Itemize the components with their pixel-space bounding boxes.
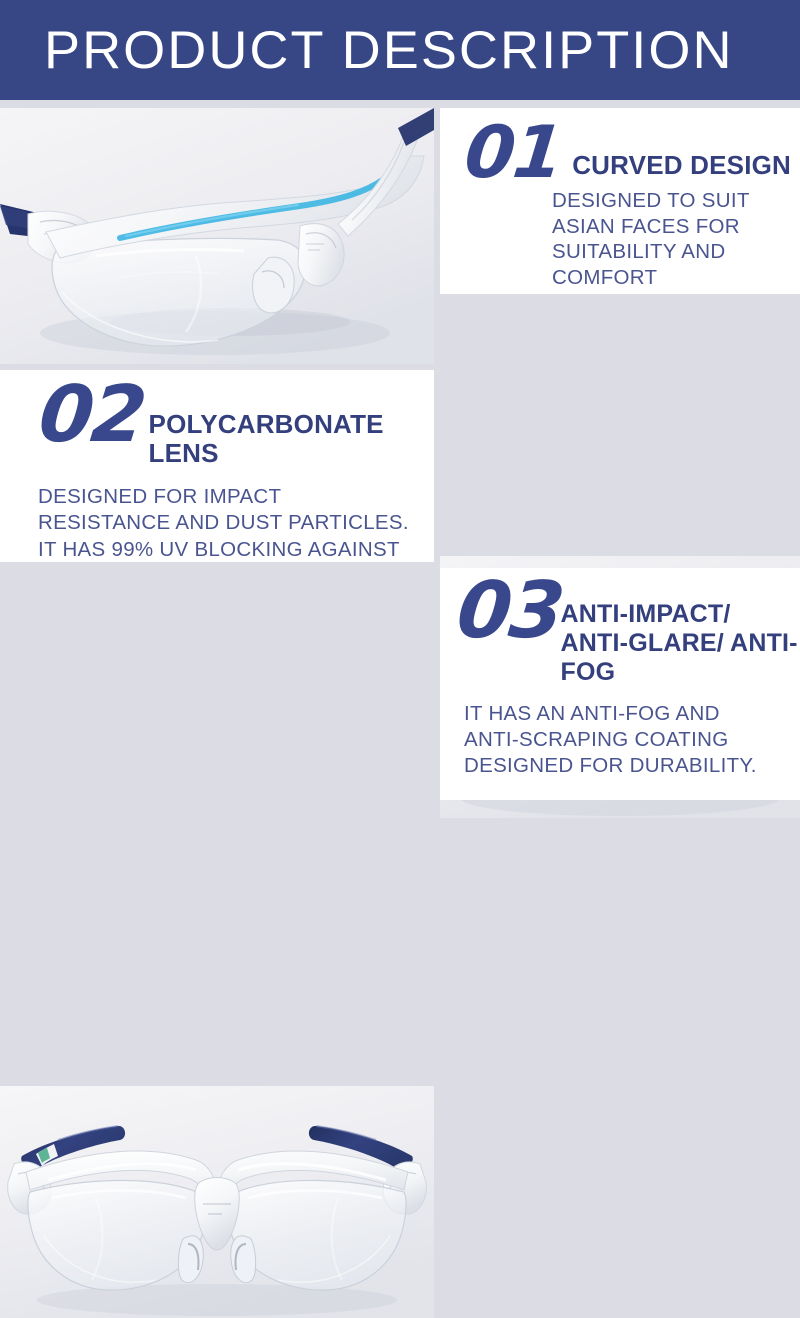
feature-01-body: DESIGNED TO SUIT ASIAN FACES FOR SUITABI…	[552, 188, 784, 291]
infographic-page: PRODUCT DESCRIPTION	[0, 0, 800, 800]
feature-03-heading: ANTI-IMPACT/ ANTI-GLARE/ ANTI-FOG	[561, 600, 800, 687]
feature-02-number: 02	[36, 382, 148, 449]
photo-safety-glasses-angled-closeup	[0, 108, 434, 364]
glasses-angled-illustration	[0, 108, 434, 364]
feature-02-number-heading-row: 02 POLYCARBONATE LENS	[0, 370, 434, 468]
feature-01-number: 01	[462, 122, 565, 184]
page-title: PRODUCT DESCRIPTION	[44, 24, 734, 77]
feature-block-01: 01 CURVED DESIGN DESIGNED TO SUIT ASIAN …	[440, 108, 800, 294]
photo-safety-glasses-front-view	[0, 1086, 434, 1318]
feature-block-03: 03 ANTI-IMPACT/ ANTI-GLARE/ ANTI-FOG IT …	[440, 568, 800, 800]
page-header: PRODUCT DESCRIPTION	[0, 0, 800, 100]
feature-03-number: 03	[454, 578, 566, 645]
feature-01-number-heading-row: 01 CURVED DESIGN	[440, 108, 800, 184]
feature-03-body: IT HAS AN ANTI-FOG AND ANTI-SCRAPING COA…	[464, 701, 774, 779]
feature-03-number-heading-row: 03 ANTI-IMPACT/ ANTI-GLARE/ ANTI-FOG	[440, 568, 800, 687]
feature-block-02: 02 POLYCARBONATE LENS DESIGNED FOR IMPAC…	[0, 370, 434, 562]
feature-02-body: DESIGNED FOR IMPACT RESISTANCE AND DUST …	[38, 484, 410, 562]
feature-02-heading: POLYCARBONATE LENS	[149, 410, 434, 468]
feature-grid: 01 CURVED DESIGN DESIGNED TO SUIT ASIAN …	[0, 100, 800, 800]
feature-01-heading: CURVED DESIGN	[572, 152, 791, 179]
glasses-front-illustration	[0, 1086, 434, 1318]
